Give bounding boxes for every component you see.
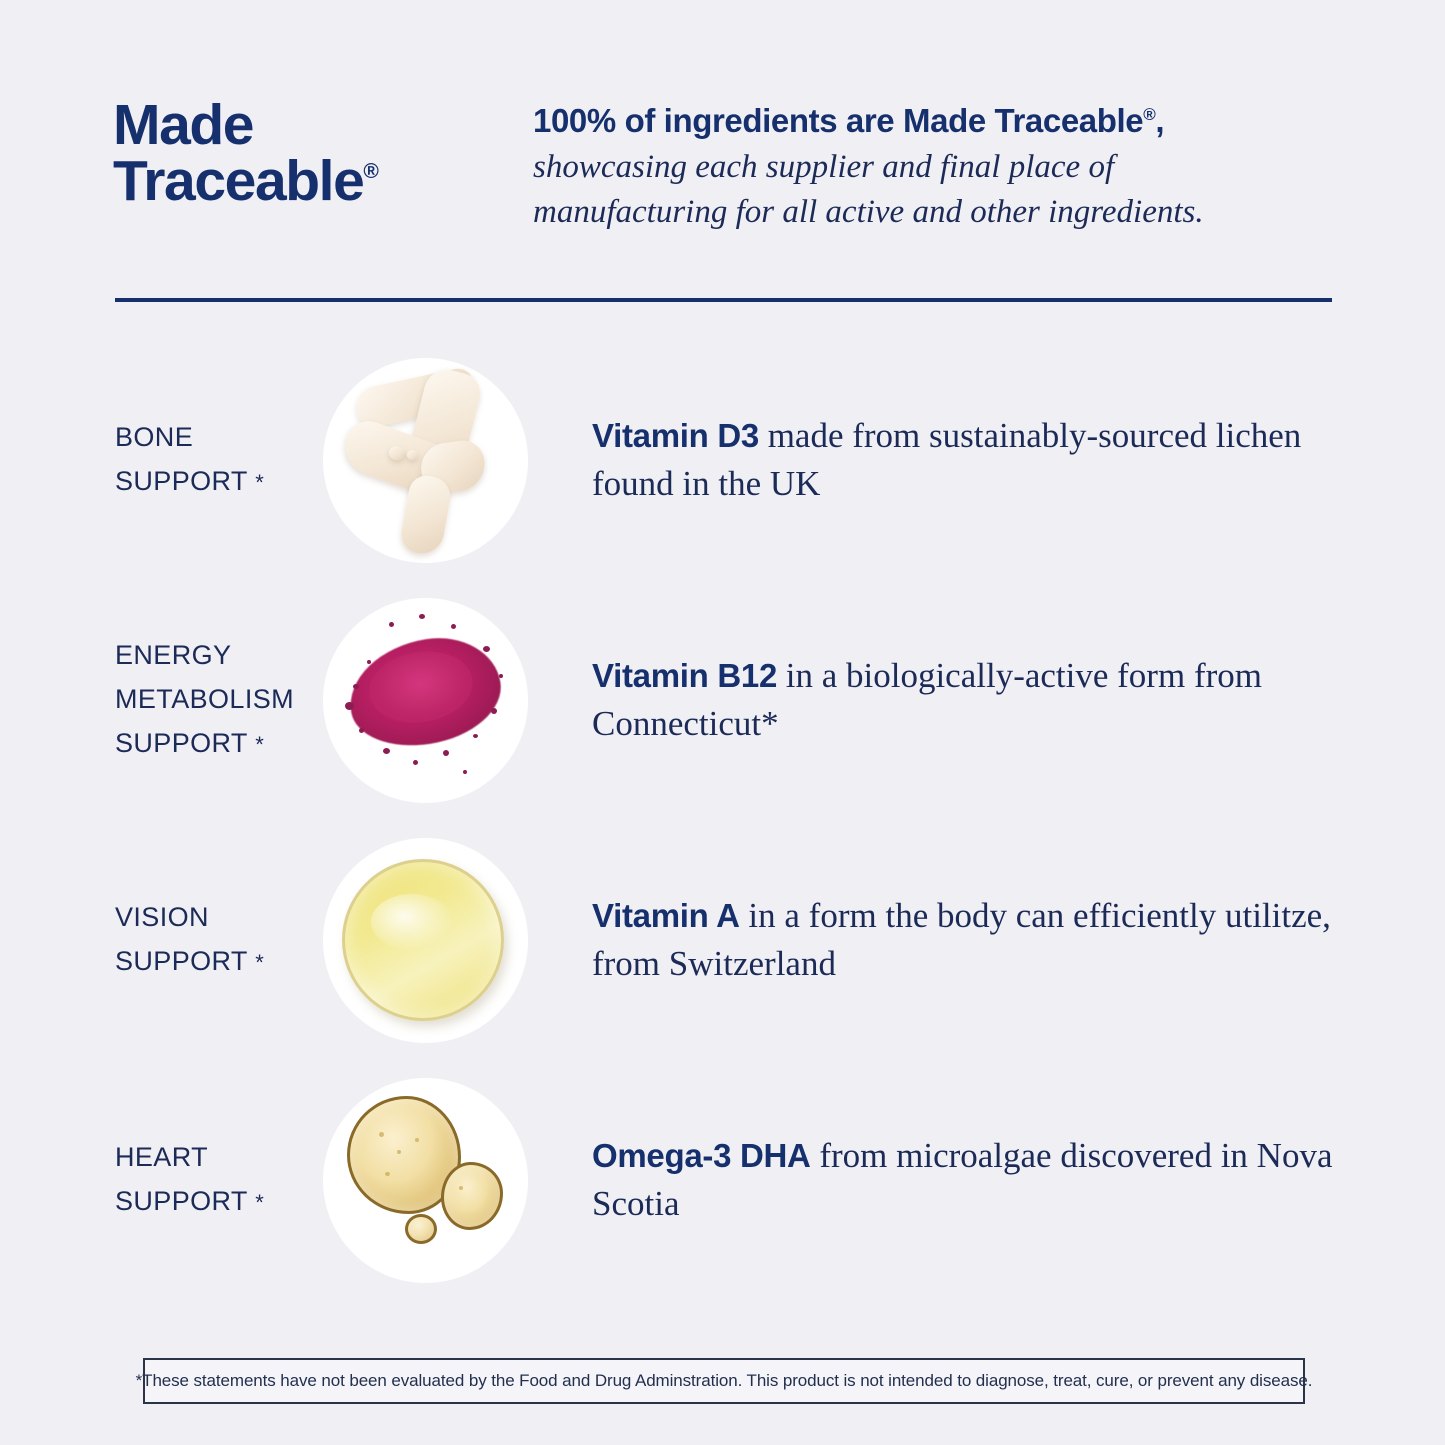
header-subtext: showcasing each supplier and final place… xyxy=(533,145,1343,235)
benefit-label-energy-metabolism-support: ENERGY METABOLISM SUPPORT * xyxy=(0,634,300,765)
yellow-oil-dish-art xyxy=(323,838,528,1043)
powder-speck xyxy=(451,624,456,629)
disclaimer-box: *These statements have not been evaluate… xyxy=(143,1358,1305,1404)
oil-droplet-medium xyxy=(441,1162,503,1230)
benefit-label-line: SUPPORT * xyxy=(115,940,300,984)
powder-speck xyxy=(383,748,390,754)
benefit-row-heart-support: HEART SUPPORT * Omega xyxy=(0,1060,1445,1300)
asterisk-icon: * xyxy=(255,950,264,975)
powder-speck xyxy=(473,734,478,738)
powder-speck xyxy=(483,646,490,652)
benefit-label-line: SUPPORT * xyxy=(115,722,300,766)
header-subtext-line-1: showcasing each supplier and final place… xyxy=(533,145,1343,190)
registered-trademark-icon-lead: ® xyxy=(1143,105,1155,124)
powder-speck xyxy=(419,614,425,619)
oil-speck xyxy=(459,1186,463,1190)
asterisk-icon: * xyxy=(255,1190,264,1215)
benefit-media-energy-metabolism-support xyxy=(300,598,550,803)
benefit-row-vision-support: VISION SUPPORT * Vitamin A in a form the… xyxy=(0,820,1445,1060)
glass-dish xyxy=(342,859,504,1021)
dish-highlight xyxy=(371,894,453,950)
benefit-label-line: SUPPORT * xyxy=(115,460,300,504)
benefit-media-vision-support xyxy=(300,838,550,1043)
brand-title-line-1: Made xyxy=(113,98,533,154)
disclaimer-text: *These statements have not been evaluate… xyxy=(136,1371,1313,1391)
brand-title-line-2: Traceable® xyxy=(113,154,533,210)
powder-speck xyxy=(367,660,371,664)
header-lead-text: 100% of ingredients are Made Traceable xyxy=(533,102,1143,139)
oil-droplet-small xyxy=(405,1214,437,1244)
ingredient-name: Omega-3 DHA xyxy=(592,1137,811,1174)
cream-smear-image xyxy=(323,358,528,563)
header-divider xyxy=(115,298,1332,302)
cream-droplet xyxy=(389,446,405,460)
asterisk-icon: * xyxy=(255,470,264,495)
benefit-label-word: SUPPORT xyxy=(115,946,247,976)
header-lead-line: 100% of ingredients are Made Traceable®, xyxy=(533,100,1343,143)
benefit-label-vision-support: VISION SUPPORT * xyxy=(0,896,300,983)
asterisk-icon: * xyxy=(255,732,264,757)
benefit-label-bone-support: BONE SUPPORT * xyxy=(0,416,300,503)
powder-speck xyxy=(337,632,344,639)
header: Made Traceable® 100% of ingredients are … xyxy=(113,96,1343,235)
benefit-row-energy-metabolism-support: ENERGY METABOLISM SUPPORT * xyxy=(0,580,1445,820)
benefit-label-line: ENERGY xyxy=(115,634,300,678)
ingredient-name: Vitamin B12 xyxy=(592,657,777,694)
oil-speck xyxy=(397,1150,401,1154)
benefit-label-line: VISION xyxy=(115,896,300,940)
benefit-media-heart-support xyxy=(300,1078,550,1283)
powder-speck xyxy=(389,622,394,627)
benefit-label-heart-support: HEART SUPPORT * xyxy=(0,1136,300,1223)
benefit-label-line: BONE xyxy=(115,416,300,460)
benefit-text-energy-metabolism-support: Vitamin B12 in a biologically-active for… xyxy=(550,652,1445,747)
benefit-label-word: SUPPORT xyxy=(115,1186,247,1216)
made-traceable-infographic: Made Traceable® 100% of ingredients are … xyxy=(0,0,1445,1445)
benefit-label-word: SUPPORT xyxy=(115,728,247,758)
yellow-oil-dish-image xyxy=(323,838,528,1043)
oil-speck xyxy=(415,1138,419,1142)
powder-speck xyxy=(345,702,354,710)
powder-speck xyxy=(443,750,449,756)
golden-oil-droplets-image xyxy=(323,1078,528,1283)
benefit-label-line: HEART xyxy=(115,1136,300,1180)
header-lead-comma: , xyxy=(1155,102,1164,139)
powder-speck xyxy=(491,708,497,714)
benefit-text-heart-support: Omega-3 DHA from microalgae discovered i… xyxy=(550,1132,1445,1227)
powder-speck xyxy=(359,728,364,733)
benefit-text-bone-support: Vitamin D3 made from sustainably-sourced… xyxy=(550,412,1445,507)
benefit-row-bone-support: BONE SUPPORT * Vitamin D3 made fro xyxy=(0,340,1445,580)
header-copy: 100% of ingredients are Made Traceable®,… xyxy=(533,96,1343,235)
benefit-label-line: SUPPORT * xyxy=(115,1180,300,1224)
powder-speck xyxy=(463,770,467,774)
brand-lockup: Made Traceable® xyxy=(113,96,533,210)
oil-speck xyxy=(385,1172,390,1176)
benefit-text-vision-support: Vitamin A in a form the body can efficie… xyxy=(550,892,1445,987)
ingredient-name: Vitamin A xyxy=(592,897,740,934)
magenta-powder-image xyxy=(323,598,528,803)
benefit-label-line: METABOLISM xyxy=(115,678,300,722)
ingredient-name: Vitamin D3 xyxy=(592,417,759,454)
golden-oil-droplets-art xyxy=(323,1078,528,1283)
powder-speck xyxy=(353,684,359,689)
brand-word-made: Made xyxy=(113,93,253,157)
magenta-powder-art xyxy=(323,598,528,803)
benefit-rows: BONE SUPPORT * Vitamin D3 made fro xyxy=(0,340,1445,1300)
brand-word-traceable: Traceable xyxy=(113,149,363,213)
cream-smear-art xyxy=(323,358,528,563)
header-subtext-line-2: manufacturing for all active and other i… xyxy=(533,190,1343,235)
powder-speck xyxy=(413,760,418,765)
oil-speck xyxy=(379,1132,384,1137)
cream-droplet xyxy=(407,450,418,460)
powder-speck xyxy=(499,674,503,678)
registered-trademark-icon: ® xyxy=(363,160,378,183)
benefit-label-word: SUPPORT xyxy=(115,466,247,496)
benefit-media-bone-support xyxy=(300,358,550,563)
